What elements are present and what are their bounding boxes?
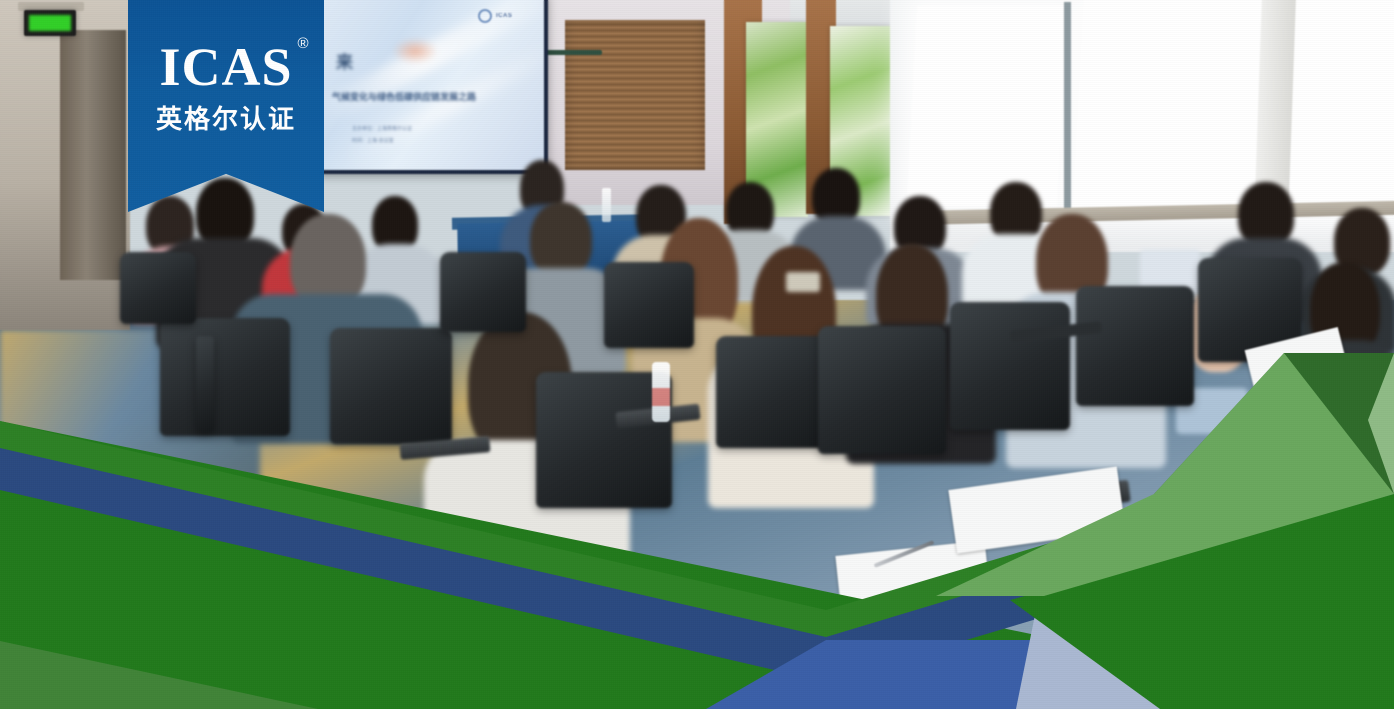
banner-canvas: ICAS 来 气候变化与绿色低碳供应链发展之路 主办单位：上海英格尔认证 时间：…	[0, 0, 1394, 709]
icas-wordmark-text: ICAS	[159, 37, 292, 97]
brand-overlay: ICAS ® 英格尔认证	[0, 0, 1394, 709]
icas-chinese-name: 英格尔认证	[156, 99, 296, 136]
icas-wordmark: ICAS ®	[159, 40, 292, 94]
registered-trademark-icon: ®	[297, 36, 309, 51]
